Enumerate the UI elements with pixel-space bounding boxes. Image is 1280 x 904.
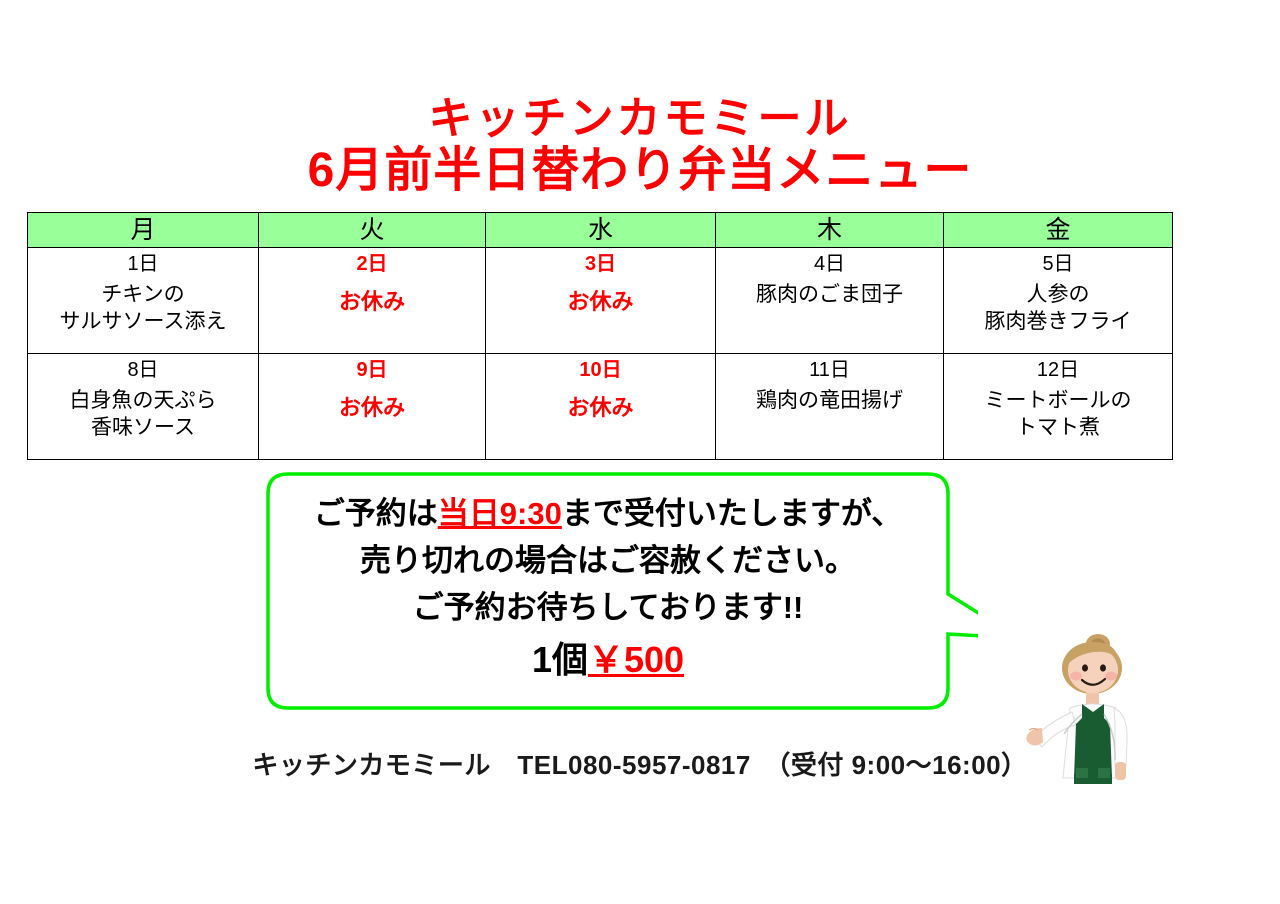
table-row: 8日 白身魚の天ぷら 香味ソース 9日 お休み 10日 お休み 11日 鶏肉の竜… — [28, 354, 1173, 460]
day-number: 9日 — [259, 357, 485, 383]
bubble-line-1: ご予約は当日9:30まで受付いたしますが、 — [272, 490, 944, 537]
table-row: 1日 チキンの サルサソース添え 2日 お休み 3日 お休み 4日 豚肉のごま団… — [28, 248, 1173, 354]
menu-cell-day-10: 10日 お休み — [486, 354, 716, 460]
menu-cell-day-12: 12日 ミートボールの トマト煮 — [944, 354, 1173, 460]
column-header-wednesday: 水 — [486, 213, 716, 248]
day-number: 1日 — [28, 251, 258, 277]
page-title: キッチンカモミール 6月前半日替わり弁当メニュー — [0, 94, 1280, 198]
day-number: 3日 — [486, 251, 715, 277]
title-line-2: 6月前半日替わり弁当メニュー — [0, 144, 1280, 198]
dish-name: ミートボールの トマト煮 — [944, 387, 1172, 441]
bubble-line-1-prefix: ご予約は — [314, 496, 438, 531]
bubble-deadline-highlight: 当日9:30 — [438, 496, 562, 531]
eye-right — [1100, 664, 1106, 671]
title-line-1: キッチンカモミール — [0, 94, 1280, 144]
closed-label: お休み — [259, 394, 485, 421]
dish-name: 人参の 豚肉巻きフライ — [944, 281, 1172, 335]
menu-cell-day-5: 5日 人参の 豚肉巻きフライ — [944, 248, 1173, 354]
menu-cell-day-2: 2日 お休み — [259, 248, 486, 354]
day-number: 11日 — [716, 357, 943, 383]
price-amount: ￥500 — [588, 639, 684, 680]
dish-name: 鶏肉の竜田揚げ — [716, 387, 943, 414]
price-unit-label: 1個 — [532, 639, 588, 680]
bubble-line-3: ご予約お待ちしております!! — [272, 584, 944, 631]
closed-label: お休み — [486, 394, 715, 421]
column-header-friday: 金 — [944, 213, 1173, 248]
day-number: 5日 — [944, 251, 1172, 277]
day-number: 12日 — [944, 357, 1172, 383]
table-header-row: 月 火 水 木 金 — [28, 213, 1173, 248]
closed-label: お休み — [486, 288, 715, 315]
dish-name: 豚肉のごま団子 — [716, 281, 943, 308]
eye-left — [1082, 664, 1088, 671]
day-number: 8日 — [28, 357, 258, 383]
bubble-text-block: ご予約は当日9:30まで受付いたしますが、 売り切れの場合はご容赦ください。 ご… — [272, 490, 944, 687]
bubble-line-2: 売り切れの場合はご容赦ください。 — [272, 537, 944, 584]
hand-left — [1026, 728, 1043, 746]
column-header-tuesday: 火 — [259, 213, 486, 248]
column-header-thursday: 木 — [716, 213, 944, 248]
day-number: 2日 — [259, 251, 485, 277]
bubble-line-1-suffix: まで受付いたしますが、 — [562, 496, 902, 531]
reservation-speech-bubble: ご予約は当日9:30まで受付いたしますが、 売り切れの場合はご容赦ください。 ご… — [258, 466, 978, 716]
menu-cell-day-3: 3日 お休み — [486, 248, 716, 354]
bubble-price-line: 1個￥500 — [272, 633, 944, 687]
weekly-menu-table: 月 火 水 木 金 1日 チキンの サルサソース添え 2日 お休み 3日 お休み… — [27, 212, 1173, 460]
hand-right — [1115, 762, 1126, 780]
staff-illustration — [1020, 628, 1180, 828]
menu-cell-day-8: 8日 白身魚の天ぷら 香味ソース — [28, 354, 259, 460]
menu-cell-day-11: 11日 鶏肉の竜田揚げ — [716, 354, 944, 460]
day-number: 10日 — [486, 357, 715, 383]
column-header-monday: 月 — [28, 213, 259, 248]
menu-cell-day-9: 9日 お休み — [259, 354, 486, 460]
menu-cell-day-4: 4日 豚肉のごま団子 — [716, 248, 944, 354]
closed-label: お休み — [259, 288, 485, 315]
dish-name: チキンの サルサソース添え — [28, 281, 258, 335]
menu-cell-day-1: 1日 チキンの サルサソース添え — [28, 248, 259, 354]
dish-name: 白身魚の天ぷら 香味ソース — [28, 387, 258, 441]
day-number: 4日 — [716, 251, 943, 277]
